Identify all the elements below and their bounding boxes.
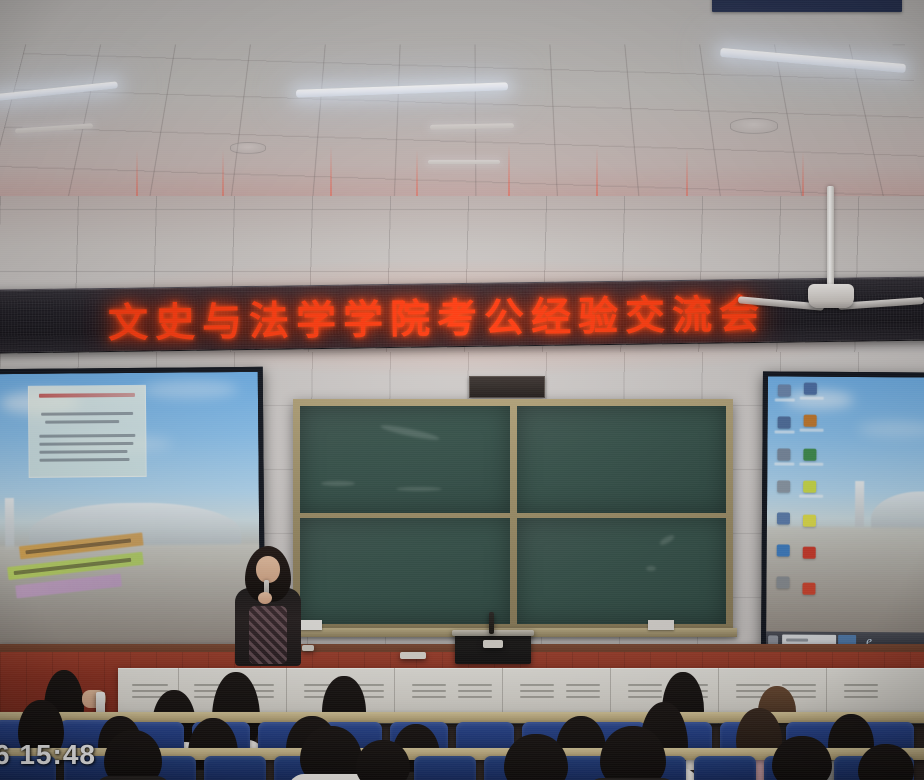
- ceiling-light-9: [428, 160, 500, 164]
- projection-screen-left: [0, 367, 265, 663]
- right-screen-tower: [855, 481, 864, 527]
- blue-ceiling-sign: [712, 0, 902, 12]
- ceiling-vent-2: [230, 142, 266, 154]
- av-box-label: [483, 640, 503, 648]
- desktop-icon-13[interactable]: [803, 547, 816, 559]
- stage-item-small: [302, 645, 314, 651]
- blackboard-panel-right: [517, 406, 727, 624]
- desktop-icon-2[interactable]: [778, 416, 791, 428]
- slide-text-card: [28, 385, 147, 478]
- water-bottle: [96, 692, 105, 714]
- stage-item-paper: [400, 652, 426, 659]
- desktop-icon-1[interactable]: [778, 384, 791, 396]
- projection-screen-right: e: [761, 371, 924, 654]
- lecture-hall-photo: 文史与法学学院考公经验交流会: [0, 0, 924, 780]
- presenter-dress: [249, 606, 287, 664]
- blackboard-eraser-right: [648, 620, 674, 630]
- slide-title-line: [39, 393, 135, 398]
- blackboard-panel-left: [300, 406, 510, 624]
- right-screen-building: [871, 491, 924, 532]
- blackboard-cell-bottom-left: [300, 518, 510, 625]
- blackboard-eraser-left: [300, 620, 322, 630]
- ceiling-vent-1: [730, 118, 778, 134]
- led-banner-text: 文史与法学学院考公经验交流会: [108, 282, 767, 349]
- desktop-icon-4[interactable]: [777, 480, 790, 492]
- blackboard-plaque: [469, 376, 545, 398]
- seat-r1-4: [204, 756, 266, 780]
- desktop-icon-9[interactable]: [804, 415, 817, 427]
- desktop-icon-3[interactable]: [777, 448, 790, 460]
- led-banner: 文史与法学学院考公经验交流会: [0, 276, 924, 353]
- left-screen-tower: [5, 498, 14, 550]
- ceiling-fan-rod: [827, 186, 834, 292]
- desktop-icon-12[interactable]: [803, 515, 816, 527]
- mic-stand-pole: [489, 612, 494, 634]
- taskbar-search-placeholder: [786, 639, 808, 642]
- seat-r1-7: [414, 756, 476, 780]
- desktop-icon-5[interactable]: [777, 512, 790, 524]
- blackboard: [293, 399, 733, 631]
- desktop-icon-10[interactable]: [803, 449, 816, 461]
- ceiling-fan-motor: [808, 284, 854, 308]
- desktop-icon-6[interactable]: [777, 544, 790, 556]
- seat-r1-11: [694, 756, 756, 780]
- presenter-face: [256, 556, 280, 583]
- presenter-hand: [258, 592, 272, 604]
- blackboard-cell-bottom-right: [517, 518, 727, 625]
- desktop-icon-14[interactable]: [802, 583, 815, 595]
- timestamp-overlay: 6 15:48: [0, 739, 96, 771]
- desktop-icon-7[interactable]: [776, 576, 789, 588]
- right-screen-water: [766, 526, 924, 633]
- av-equipment-box: [455, 634, 531, 664]
- blackboard-cell-top-left: [300, 406, 510, 513]
- blackboard-cell-top-right: [517, 406, 727, 513]
- desktop-icon-11[interactable]: [803, 481, 816, 493]
- desktop-icon-8[interactable]: [804, 383, 817, 395]
